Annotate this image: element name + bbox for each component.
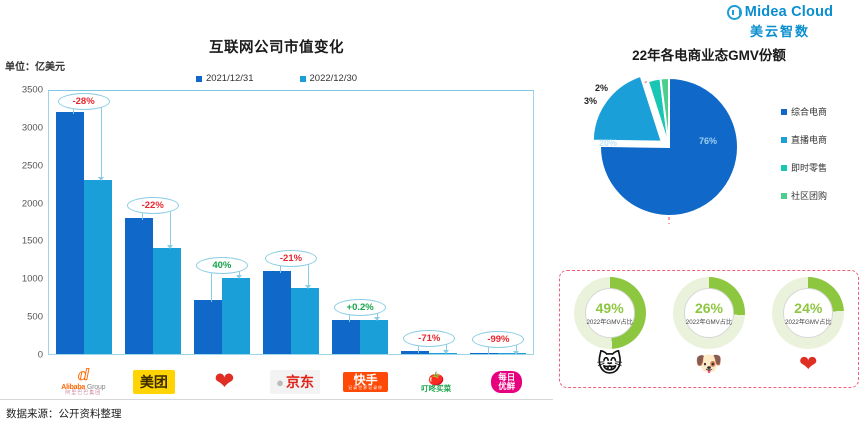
pie-chart-legend: 综合电商直播电商即时零售社区团购 <box>781 105 859 217</box>
pie-legend-label-1: 直播电商 <box>791 133 827 146</box>
gauge-logo-2: ❤ <box>766 349 850 379</box>
bar-group-1[interactable]: -22% <box>118 91 187 354</box>
bar-group-4[interactable]: +0.2% <box>326 91 395 354</box>
pie-legend-label-3: 社区团购 <box>791 189 827 202</box>
pie-chart-title: 22年各电商业态GMV份额 <box>553 44 865 64</box>
bar-group-5[interactable]: -71% <box>395 91 464 354</box>
legend-item-2022: 2022/12/30 <box>300 73 358 84</box>
gauge-logo-1: 🐶 <box>667 349 751 379</box>
gauge-inner-1: 26% 2022年GMV占比 <box>684 288 734 338</box>
bar-chart-panel: 互联网公司市值变化 单位：亿美元 2021/12/31 2022/12/30 0… <box>0 0 553 398</box>
pie-legend-swatch-1 <box>781 137 787 143</box>
pinduoduo-heart-icon: ❤ <box>799 353 817 375</box>
jd-joy-dog-icon: 🐶 <box>695 353 722 375</box>
bar-annotation-0: -28% <box>58 93 110 110</box>
bar-chart-title: 互联网公司市值变化 <box>0 36 553 57</box>
bar-annotation-6: -99% <box>472 331 524 348</box>
pie-legend-swatch-2 <box>781 165 787 171</box>
missfresh-logo: 每日优鲜 <box>471 364 542 400</box>
bar-annotation-2: 40% <box>196 257 248 274</box>
legend-swatch-2022 <box>300 76 306 82</box>
gauge-logo-0: 😸 <box>568 349 652 379</box>
bar-group-3[interactable]: -21% <box>256 91 325 354</box>
gauge-天猫[interactable]: 49% 2022年GMV占比 😸 <box>568 277 652 379</box>
y-tick-0: 0 <box>38 350 43 361</box>
pie-legend-label-2: 即时零售 <box>791 161 827 174</box>
gauge-value-1: 26% <box>695 301 723 315</box>
gauge-拼多多[interactable]: 24% 2022年GMV占比 ❤ <box>766 277 850 379</box>
bar-annotation-connector-6 <box>464 91 533 354</box>
y-tick-3000: 3000 <box>22 122 43 133</box>
bar-group-6[interactable]: -99% <box>464 91 533 354</box>
bar-annotation-connector-3 <box>256 91 325 354</box>
pie-legend-item-直播电商[interactable]: 直播电商 <box>781 133 859 146</box>
x-axis-logos: ⅆAlibaba Group阿里巴巴集团美团❤●京东快手记录世界记录你🍅叮咚买菜… <box>48 364 542 400</box>
pie-legend-item-综合电商[interactable]: 综合电商 <box>781 105 859 118</box>
gauge-inner-2: 24% 2022年GMV占比 <box>783 288 833 338</box>
jd-logo: ●京东 <box>260 364 331 400</box>
legend-label-2022: 2022/12/30 <box>310 73 358 84</box>
slide-root: Midea Cloud 美云智数 互联网公司市值变化 单位：亿美元 2021/1… <box>0 0 865 427</box>
y-axis: 0500100015002000250030003500 <box>14 90 46 355</box>
gauge-inner-0: 49% 2022年GMV占比 <box>585 288 635 338</box>
gauge-ring-2: 24% 2022年GMV占比 <box>772 277 844 349</box>
pie-label-直播电商: 20% <box>599 138 617 148</box>
y-tick-500: 500 <box>27 312 43 323</box>
y-tick-1500: 1500 <box>22 236 43 247</box>
bar-chart-legend: 2021/12/31 2022/12/30 <box>0 73 553 84</box>
bar-annotation-connector-5 <box>395 91 464 354</box>
legend-item-2021: 2021/12/31 <box>196 73 254 84</box>
gauge-ring-1: 26% 2022年GMV占比 <box>673 277 745 349</box>
gauge-value-2: 24% <box>794 301 822 315</box>
pie-label-综合电商: 76% <box>699 136 717 146</box>
legend-swatch-2021 <box>196 76 202 82</box>
bar-chart-plot-area: 0500100015002000250030003500 -28%-22%40%… <box>14 90 542 362</box>
meituan-logo: 美团 <box>119 364 190 400</box>
bar-annotation-connector-0 <box>49 91 118 354</box>
plot-frame: -28%-22%40%-21%+0.2%-71%-99% <box>48 90 534 355</box>
tmall-cat-icon: 😸 <box>597 352 623 377</box>
pie-legend-label-0: 综合电商 <box>791 105 827 118</box>
source-note: 数据来源：公开资料整理 <box>6 406 122 421</box>
y-tick-3500: 3500 <box>22 85 43 96</box>
gmv-share-gauges-box: 49% 2022年GMV占比 😸 26% 2022年GMV占比 🐶 24% 20… <box>559 270 859 388</box>
bar-groups: -28%-22%40%-21%+0.2%-71%-99% <box>49 91 533 354</box>
gauge-caption-0: 2022年GMV占比 <box>586 317 632 326</box>
pie-label-社区团购: 2% <box>595 83 608 93</box>
pie-chart: 76% 20% 3% 2% <box>559 74 774 224</box>
gauge-value-0: 49% <box>596 301 624 315</box>
bar-annotation-5: -71% <box>403 330 455 347</box>
gauge-京东[interactable]: 26% 2022年GMV占比 🐶 <box>667 277 751 379</box>
gmv-share-gauges: 49% 2022年GMV占比 😸 26% 2022年GMV占比 🐶 24% 20… <box>560 271 858 387</box>
dingdong-logo: 🍅叮咚买菜 <box>401 364 472 400</box>
pinduoduo-logo: ❤ <box>189 364 260 400</box>
pie-legend-item-社区团购[interactable]: 社区团购 <box>781 189 859 202</box>
gmv-panel: 22年各电商业态GMV份额 76% 20% 3% 2% 综合电商直播电商即时零售… <box>553 0 865 398</box>
bar-annotation-connector-1 <box>118 91 187 354</box>
y-tick-1000: 1000 <box>22 274 43 285</box>
gauge-caption-1: 2022年GMV占比 <box>686 317 732 326</box>
bar-group-0[interactable]: -28% <box>49 91 118 354</box>
kuaishou-logo: 快手记录世界记录你 <box>330 364 401 400</box>
pie-legend-swatch-0 <box>781 109 787 115</box>
footer-divider <box>0 399 553 400</box>
bar-chart-unit-label: 单位：亿美元 <box>5 58 65 73</box>
bar-annotation-1: -22% <box>127 197 179 214</box>
gauge-ring-0: 49% 2022年GMV占比 <box>574 277 646 349</box>
pie-legend-item-即时零售[interactable]: 即时零售 <box>781 161 859 174</box>
bar-annotation-4: +0.2% <box>334 299 386 316</box>
alibaba-logo: ⅆAlibaba Group阿里巴巴集团 <box>48 364 119 400</box>
bar-group-2[interactable]: 40% <box>187 91 256 354</box>
pie-legend-swatch-3 <box>781 193 787 199</box>
bar-annotation-connector-2 <box>187 91 256 354</box>
gauge-caption-2: 2022年GMV占比 <box>785 317 831 326</box>
bar-annotation-3: -21% <box>265 250 317 267</box>
y-tick-2500: 2500 <box>22 160 43 171</box>
y-tick-2000: 2000 <box>22 198 43 209</box>
pie-label-即时零售: 3% <box>584 96 597 106</box>
legend-label-2021: 2021/12/31 <box>206 73 254 84</box>
